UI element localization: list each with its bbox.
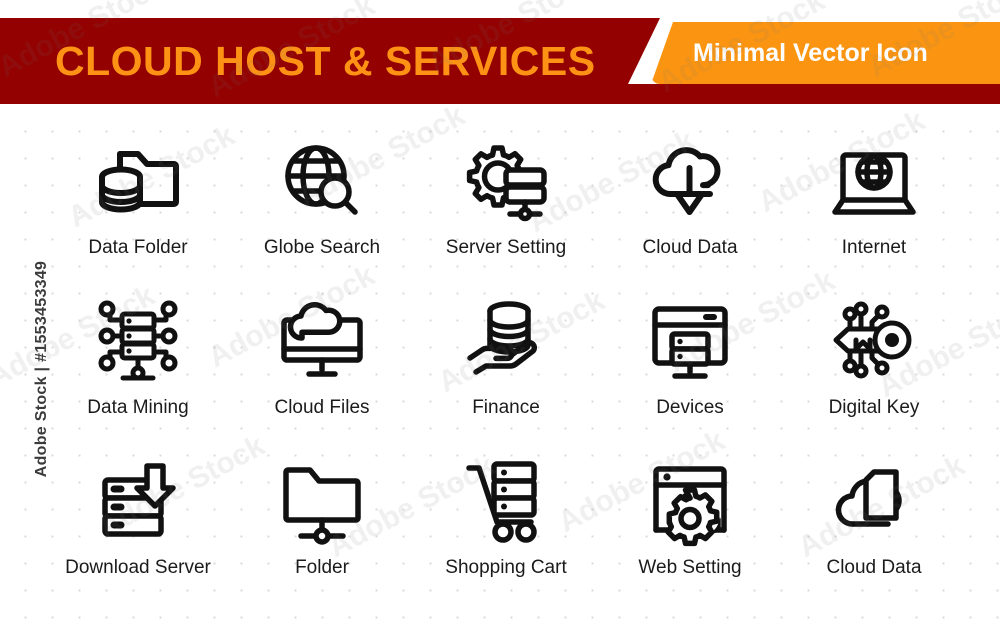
icon-label: Cloud Files [274,398,369,419]
icon-cell-cloud-data-bot[interactable]: Cloud Data [782,448,966,608]
cart-server-icon [458,448,554,552]
icon-grid: Data Folder Globe Search [46,128,966,608]
icon-label: Finance [472,398,540,419]
banner-title-wrap: CLOUD HOST & SERVICES [0,18,660,104]
icon-cell-data-folder[interactable]: Data Folder [46,128,230,288]
browser-gear-icon [642,448,738,552]
icon-label: Data Folder [88,238,187,259]
icon-cell-devices[interactable]: Devices [598,288,782,448]
server-download-icon [90,448,186,552]
digital-key-icon [826,288,922,392]
hand-coins-icon [458,288,554,392]
icon-label: Cloud Data [826,558,921,579]
icon-cell-web-setting[interactable]: Web Setting [598,448,782,608]
icon-label: Folder [295,558,349,579]
icon-cell-finance[interactable]: Finance [414,288,598,448]
icon-label: Digital Key [829,398,920,419]
icon-cell-internet[interactable]: Internet [782,128,966,288]
icon-label: Data Mining [87,398,188,419]
data-folder-icon [90,128,186,232]
data-mining-icon [90,288,186,392]
icon-cell-cloud-data-top[interactable]: Cloud Data [598,128,782,288]
icon-label: Shopping Cart [445,558,566,579]
icon-cell-shopping-cart[interactable]: Shopping Cart [414,448,598,608]
icon-cell-download-server[interactable]: Download Server [46,448,230,608]
icon-cell-server-setting[interactable]: Server Setting [414,128,598,288]
monitor-server-icon [642,288,738,392]
banner-tab[interactable]: Minimal Vector Icon [651,22,1000,84]
banner-tab-label: Minimal Vector Icon [693,41,928,66]
icon-sheet-page: CLOUD HOST & SERVICES Minimal Vector Ico… [0,0,1000,625]
cloud-document-icon [826,448,922,552]
cloud-download-icon [642,128,738,232]
folder-network-icon [274,448,370,552]
icon-label: Globe Search [264,238,380,259]
icon-label: Devices [656,398,724,419]
laptop-globe-icon [826,128,922,232]
header-banner: CLOUD HOST & SERVICES Minimal Vector Ico… [0,18,1000,104]
icon-cell-data-mining[interactable]: Data Mining [46,288,230,448]
icon-cell-globe-search[interactable]: Globe Search [230,128,414,288]
icon-label: Internet [842,238,906,259]
icon-cell-digital-key[interactable]: Digital Key [782,288,966,448]
icon-cell-cloud-files[interactable]: Cloud Files [230,288,414,448]
monitor-cloud-icon [274,288,370,392]
icon-label: Web Setting [638,558,741,579]
icon-label: Cloud Data [642,238,737,259]
server-setting-icon [458,128,554,232]
icon-cell-folder[interactable]: Folder [230,448,414,608]
icon-label: Server Setting [446,238,566,259]
icon-label: Download Server [65,558,211,579]
page-title: CLOUD HOST & SERVICES [55,41,596,82]
globe-search-icon [274,128,370,232]
